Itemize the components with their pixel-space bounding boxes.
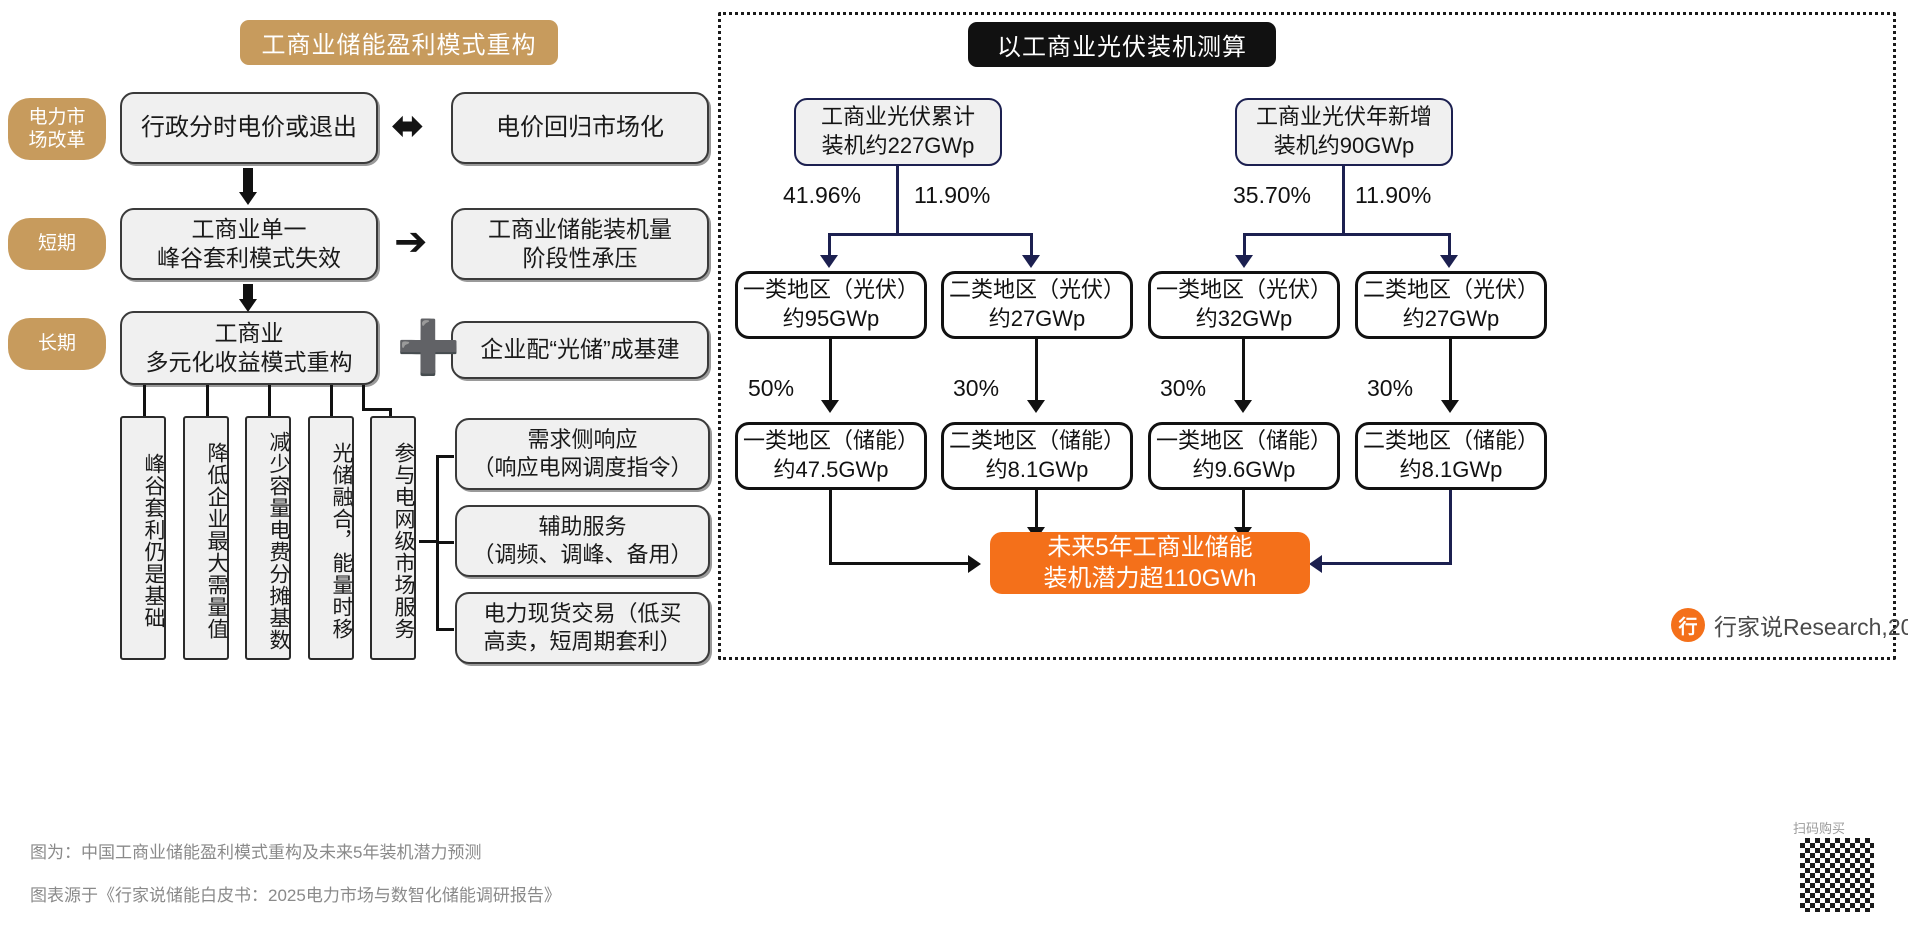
- node-text-line2: 约47.5GWp: [774, 456, 889, 485]
- arrowhead-st-3: [1234, 400, 1252, 413]
- pct-30-b: 30%: [1160, 375, 1206, 402]
- arrowhead-t2-pv-cum: [1022, 255, 1040, 268]
- vbox-text: 减少容量电费分摊基数: [267, 431, 289, 651]
- conclusion-line2: 装机潜力超110GWh: [1044, 563, 1257, 594]
- box-text-line2: 阶段性承压: [523, 244, 638, 273]
- node-type2-storage-cumulative: 二类地区（储能） 约8.1GWp: [941, 422, 1133, 490]
- vbox-text: 峰谷套利仍是基础: [142, 453, 164, 629]
- arrowhead-t1-pv-ann: [1235, 255, 1253, 268]
- node-type2-storage-annual: 二类地区（储能） 约8.1GWp: [1355, 422, 1547, 490]
- vbox-grid-market-service: 参与电网级市场服务: [370, 416, 416, 660]
- arrowhead-t2-pv-ann: [1440, 255, 1458, 268]
- node-text-line1: 二类地区（储能）: [949, 427, 1125, 456]
- qr-code[interactable]: [1800, 838, 1874, 912]
- arrowhead-st-4: [1441, 400, 1459, 413]
- brand-text: 行家说Research,2025: [1714, 608, 1908, 642]
- node-text-line1: 二类地区（光伏）: [949, 276, 1125, 305]
- pct-35-70: 35.70%: [1233, 182, 1311, 209]
- right-panel-title-text: 以工商业光伏装机测算: [997, 27, 1247, 62]
- node-text-line2: 约9.6GWp: [1193, 456, 1296, 485]
- stage-label-text: 短期: [38, 232, 76, 255]
- box-text-line1: 工商业储能装机量: [488, 215, 672, 244]
- vbox-reduce-capacity-fee: 减少容量电费分摊基数: [245, 416, 291, 660]
- node-text-line1: 一类地区（储能）: [743, 427, 919, 456]
- vbox-peak-valley-arbitrage: 峰谷套利仍是基础: [120, 416, 166, 660]
- stage-label-text: 电力市场改革: [26, 106, 88, 152]
- box-text-line2: 峰谷套利模式失效: [157, 244, 341, 273]
- box-ancillary-services: 辅助服务 （调频、调峰、备用）: [455, 505, 710, 577]
- box-text-line1: 工商业: [215, 319, 284, 348]
- node-text-line2: 约27GWp: [1403, 305, 1500, 334]
- arrowhead-chain-2: [239, 299, 257, 312]
- node-text-line2: 约32GWp: [1196, 305, 1293, 334]
- vbox-text: 降低企业最大需量值: [205, 442, 227, 640]
- box-spot-trading: 电力现货交易（低买 高卖，短周期套利）: [455, 592, 710, 664]
- qr-label: 扫码购买: [1793, 818, 1845, 837]
- connector-concl-4a: [1449, 490, 1452, 564]
- box-single-arbitrage-fail: 工商业单一 峰谷套利模式失效: [120, 208, 378, 280]
- box-text-line2: （调频、调峰、备用）: [472, 541, 692, 569]
- node-text-line2: 装机约90GWp: [1274, 132, 1415, 161]
- node-conclusion: 未来5年工商业储能 装机潜力超110GWh: [990, 532, 1310, 594]
- connector-concl-1b: [829, 562, 972, 565]
- node-cumulative-pv: 工商业光伏累计 装机约227GWp: [794, 98, 1002, 166]
- connector-pv-st-4: [1449, 339, 1452, 405]
- node-type2-pv-cumulative: 二类地区（光伏） 约27GWp: [941, 271, 1133, 339]
- footer-caption-line2: 图表源于《行家说储能白皮书：2025电力市场与数智化储能调研报告》: [30, 881, 561, 906]
- vbox-text: 光储融合，能量时移: [330, 442, 352, 640]
- box-text: 企业配“光储”成基建: [480, 335, 679, 364]
- brace-arm-bottom: [436, 628, 454, 631]
- pct-11-90-a: 11.90%: [914, 182, 990, 209]
- node-text-line1: 二类地区（储能）: [1363, 427, 1539, 456]
- right-panel-title: 以工商业光伏装机测算: [968, 22, 1276, 67]
- node-text-line1: 一类地区（储能）: [1156, 427, 1332, 456]
- node-text-line1: 一类地区（光伏）: [743, 276, 919, 305]
- node-text-line2: 约95GWp: [783, 305, 880, 334]
- arrowhead-st-2: [1027, 400, 1045, 413]
- box-text-line2: 多元化收益模式重构: [146, 348, 353, 377]
- connector-concl-4b: [1322, 562, 1452, 565]
- arrowhead-chain-1: [239, 192, 257, 205]
- arrowhead-concl-4: [1309, 555, 1322, 573]
- connector-tree-v2: [206, 385, 209, 416]
- connector-pv-st-1: [829, 339, 832, 405]
- brand-mark-icon: 行: [1671, 608, 1705, 642]
- node-text-line2: 装机约227GWp: [822, 132, 975, 161]
- connector-tree-v3: [268, 385, 271, 416]
- box-text-line1: 电力现货交易（低买: [483, 600, 681, 628]
- box-text-line1: 需求侧响应: [527, 426, 637, 454]
- pct-30-c: 30%: [1367, 375, 1413, 402]
- node-type2-pv-annual: 二类地区（光伏） 约27GWp: [1355, 271, 1547, 339]
- left-panel-title-text: 工商业储能盈利模式重构: [262, 25, 537, 60]
- connector-split-left-stem: [896, 166, 899, 235]
- box-text-line1: 辅助服务: [538, 513, 626, 541]
- box-text: 行政分时电价或退出: [141, 113, 357, 144]
- pct-11-90-b: 11.90%: [1355, 182, 1431, 209]
- node-text-line2: 约8.1GWp: [1400, 456, 1503, 485]
- arrowhead-t1-pv-cum: [820, 255, 838, 268]
- node-type1-pv-cumulative: 一类地区（光伏） 约95GWp: [735, 271, 927, 339]
- connector-tree-v4: [330, 385, 333, 416]
- connector-concl-3: [1242, 490, 1245, 532]
- pct-text: 11.90%: [1355, 182, 1431, 208]
- vbox-pv-storage-integration: 光储融合，能量时移: [308, 416, 354, 660]
- node-text-line1: 工商业光伏年新增: [1256, 103, 1432, 132]
- pct-text: 35.70%: [1233, 182, 1311, 208]
- arrowhead-st-1: [821, 400, 839, 413]
- box-admin-tou-price: 行政分时电价或退出: [120, 92, 378, 164]
- node-text-line2: 约27GWp: [989, 305, 1086, 334]
- box-text-line2: 高卖，短周期套利）: [483, 628, 681, 656]
- pct-30-a: 30%: [953, 375, 999, 402]
- node-type1-storage-cumulative: 一类地区（储能） 约47.5GWp: [735, 422, 927, 490]
- stage-pill-short-term: 短期: [8, 218, 106, 270]
- node-annual-new-pv: 工商业光伏年新增 装机约90GWp: [1235, 98, 1453, 166]
- plus-icon: ➕: [396, 322, 461, 374]
- connector-split-right-bar: [1243, 233, 1451, 236]
- arrowhead-concl-1: [968, 555, 981, 573]
- connector-tree-v5b: [362, 408, 392, 411]
- pct-text: 11.90%: [914, 182, 990, 208]
- node-text-line1: 一类地区（光伏）: [1156, 276, 1332, 305]
- brace-arm-top: [436, 455, 454, 458]
- pct-text: 30%: [1160, 375, 1206, 401]
- node-text-line1: 二类地区（光伏）: [1363, 276, 1539, 305]
- box-diversified-revenue: 工商业 多元化收益模式重构: [120, 311, 378, 385]
- pct-text: 50%: [748, 375, 794, 401]
- pct-text: 41.96%: [783, 182, 861, 208]
- stage-pill-long-term: 长期: [8, 318, 106, 370]
- connector-pv-st-3: [1242, 339, 1245, 405]
- box-pv-storage-infrastructure: 企业配“光储”成基建: [451, 321, 709, 379]
- stage-label-text: 长期: [38, 332, 76, 355]
- connector-split-left-bar: [828, 233, 1033, 236]
- node-text-line2: 约8.1GWp: [986, 456, 1089, 485]
- box-storage-capacity-pressure: 工商业储能装机量 阶段性承压: [451, 208, 709, 280]
- pct-text: 30%: [953, 375, 999, 401]
- node-type1-storage-annual: 一类地区（储能） 约9.6GWp: [1148, 422, 1340, 490]
- vbox-text: 参与电网级市场服务: [392, 442, 414, 640]
- bidirectional-arrow-icon: ⬌: [391, 106, 425, 146]
- box-text-line2: （响应电网调度指令）: [472, 454, 692, 482]
- connector-tree-v1: [143, 385, 146, 416]
- connector-pv-st-2: [1035, 339, 1038, 405]
- brand-mark-text: 行: [1678, 612, 1697, 639]
- node-type1-pv-annual: 一类地区（光伏） 约32GWp: [1148, 271, 1340, 339]
- brand-logo: 行 行家说Research,2025: [1671, 608, 1908, 642]
- footer-caption-line1: 图为：中国工商业储能盈利模式重构及未来5年装机潜力预测: [30, 838, 481, 863]
- box-demand-response: 需求侧响应 （响应电网调度指令）: [455, 418, 710, 490]
- brace-arm-mid: [436, 541, 454, 544]
- box-text: 电价回归市场化: [496, 113, 664, 144]
- connector-concl-2: [1035, 490, 1038, 532]
- brace-stub: [419, 540, 437, 543]
- pct-41-96: 41.96%: [783, 182, 861, 209]
- connector-split-right-stem: [1342, 166, 1345, 235]
- pct-text: 30%: [1367, 375, 1413, 401]
- box-text-line1: 工商业单一: [192, 215, 307, 244]
- node-text-line1: 工商业光伏累计: [821, 103, 975, 132]
- stage-pill-power-market-reform: 电力市场改革: [8, 98, 106, 160]
- conclusion-line1: 未来5年工商业储能: [1047, 532, 1252, 563]
- left-panel-title: 工商业储能盈利模式重构: [240, 20, 558, 65]
- box-market-price-return: 电价回归市场化: [451, 92, 709, 164]
- connector-chain-1: [243, 168, 253, 194]
- right-arrow-icon: ➔: [394, 222, 428, 262]
- vbox-reduce-max-demand: 降低企业最大需量值: [183, 416, 229, 660]
- connector-concl-1a: [829, 490, 832, 564]
- pct-50: 50%: [748, 375, 794, 402]
